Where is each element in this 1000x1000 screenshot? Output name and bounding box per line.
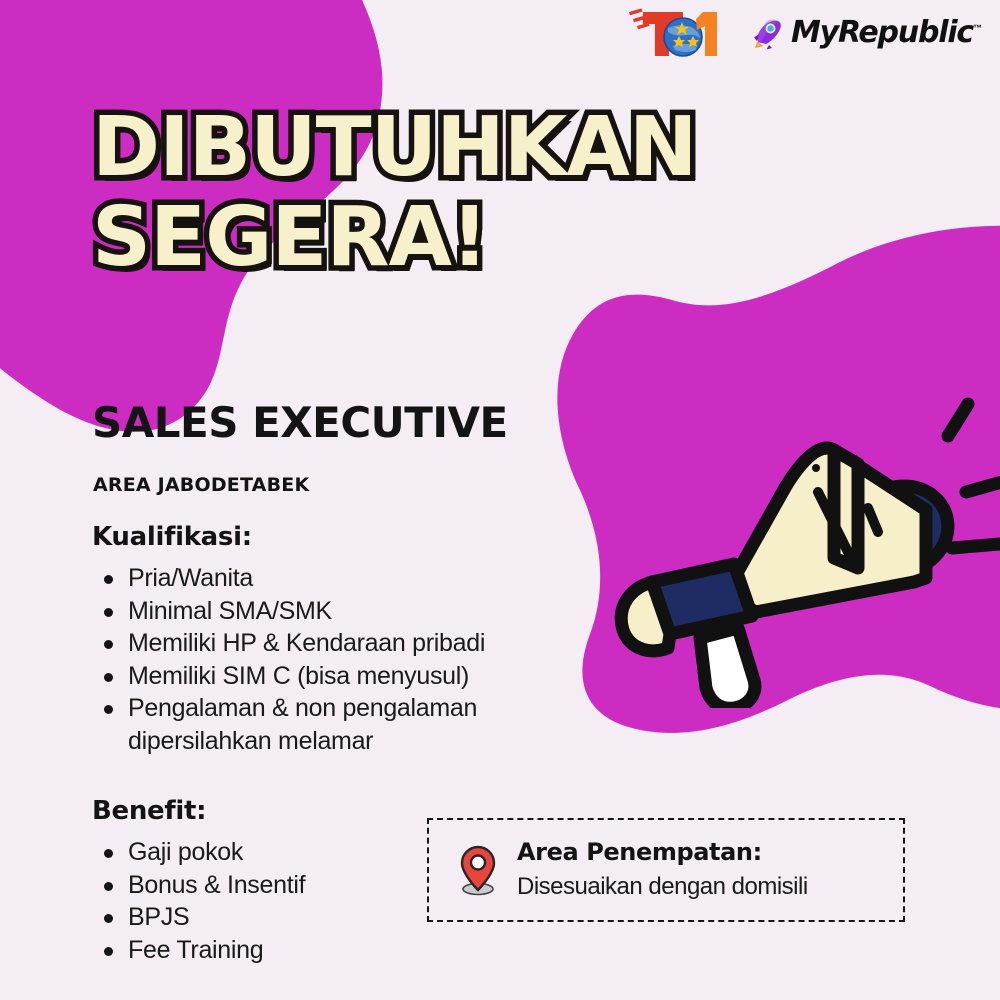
headline-line-1: DIBUTUHKAN [92, 108, 696, 188]
logo-bar: MyRepublic™ [627, 6, 982, 60]
list-item: Fee Training [92, 934, 432, 967]
placement-title: Area Penempatan: [517, 837, 808, 867]
trademark-symbol: ™ [973, 23, 982, 33]
placement-area-box: Area Penempatan: Disesuaikan dengan domi… [427, 818, 905, 922]
list-item: Pria/Wanita [92, 562, 562, 595]
placement-text: Area Penempatan: Disesuaikan dengan domi… [505, 837, 808, 902]
sound-wave-1 [948, 404, 968, 436]
headline-line-2: SEGERA! [92, 198, 696, 278]
qualifications-section: Kualifikasi: Pria/Wanita Minimal SMA/SMK… [92, 522, 562, 757]
list-item: Minimal SMA/SMK [92, 595, 562, 628]
sound-wave-3 [952, 544, 1000, 548]
qualifications-list: Pria/Wanita Minimal SMA/SMK Memiliki HP … [92, 562, 562, 757]
megaphone-handle [700, 628, 755, 708]
megaphone-illustration [596, 296, 1000, 708]
list-item: BPJS [92, 901, 432, 934]
list-item-continuation: dipersilahkan melamar [92, 725, 562, 758]
qualifications-heading: Kualifikasi: [92, 522, 562, 552]
megaphone-cone [724, 448, 926, 612]
toi-logo [627, 6, 723, 60]
myrepublic-logo: MyRepublic™ [749, 15, 982, 51]
list-item: Gaji pokok [92, 836, 432, 869]
benefits-section: Benefit: Gaji pokok Bonus & Insentif BPJ… [92, 796, 432, 966]
list-item: Bonus & Insentif [92, 869, 432, 902]
sound-wave-2 [966, 482, 1000, 492]
recruitment-poster: MyRepublic™ DIBUTUHKAN SEGERA! SALES EXE… [0, 0, 1000, 1000]
headline-block: DIBUTUHKAN SEGERA! [92, 108, 696, 279]
benefits-heading: Benefit: [92, 796, 432, 826]
list-item: Pengalaman & non pengalaman [92, 692, 562, 725]
list-item: Memiliki HP & Kendaraan pribadi [92, 627, 562, 660]
location-pin-icon [456, 844, 500, 896]
myrepublic-wordmark: MyRepublic™ [791, 18, 982, 48]
pin-wrap [451, 844, 505, 896]
rocket-icon [749, 15, 785, 51]
job-title: SALES EXECUTIVE [92, 398, 508, 447]
benefits-list: Gaji pokok Bonus & Insentif BPJS Fee Tra… [92, 836, 432, 966]
placement-subtitle: Disesuaikan dengan domisili [517, 871, 808, 902]
job-area: AREA JABODETABEK [93, 474, 309, 496]
myrepublic-wordmark-text: MyRepublic [791, 15, 973, 50]
list-item: Memiliki SIM C (bisa menyusul) [92, 660, 562, 693]
